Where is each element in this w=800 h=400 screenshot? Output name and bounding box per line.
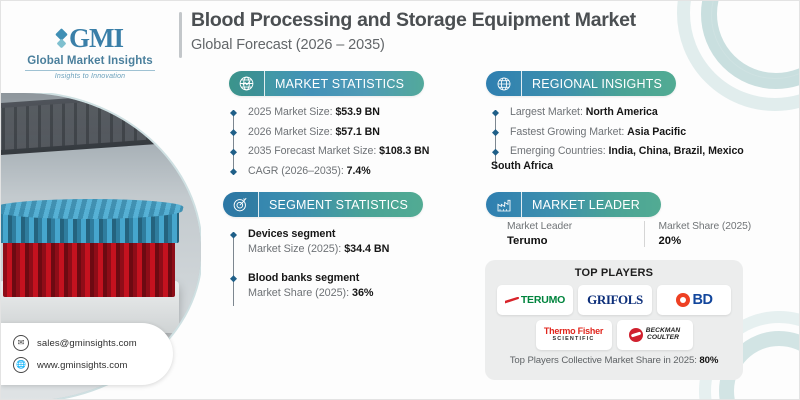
player-name-sub: SCIENTIFIC: [544, 337, 603, 343]
region-value: India, China, Brazil, Mexico: [609, 145, 744, 157]
contact-website-row[interactable]: 🌐 www.gminsights.com: [13, 354, 167, 376]
stat-label: 2035 Forecast Market Size:: [248, 145, 376, 157]
globe-icon: [486, 71, 522, 96]
segment-heading: Devices segment: [248, 227, 474, 242]
player-logo-card[interactable]: GRIFOLS: [578, 285, 652, 315]
bd-logo: BD: [676, 292, 713, 308]
stat-label: 2026 Market Size:: [248, 126, 333, 138]
section-badge-label: MARKET STATISTICS: [265, 77, 404, 91]
globe-icon: 🌐: [13, 357, 29, 373]
stat-value: 7.4%: [347, 165, 371, 177]
list-item: Fastest Growing Market: Asia Pacific: [491, 125, 791, 140]
section-badge-label: MARKET LEADER: [522, 198, 640, 212]
list-item: Emerging Countries: India, China, Brazil…: [491, 144, 791, 173]
region-label: Fastest Growing Market:: [510, 126, 624, 138]
market-share-column: Market Share (2025) 20%: [644, 221, 792, 247]
beckman-coulter-logo: BECKMAN COULTER: [629, 328, 680, 342]
blood-tubes-caps: [1, 199, 185, 219]
bd-starburst-icon: [676, 293, 690, 307]
stat-value: $108.3 BN: [379, 145, 429, 157]
page-title: Blood Processing and Storage Equipment M…: [191, 9, 636, 31]
player-logo-card[interactable]: BECKMAN COULTER: [617, 320, 693, 350]
section-badge-segment-statistics: SEGMENT STATISTICS: [223, 192, 423, 217]
keyboard-blur: [1, 93, 201, 158]
player-name: BD: [693, 292, 713, 308]
top-players-panel: TOP PLAYERS TERUMO GRIFOLS BD Thermo Fis…: [485, 260, 743, 380]
section-badge-label: REGIONAL INSIGHTS: [522, 77, 662, 91]
envelope-icon: ✉: [13, 335, 29, 351]
beckman-wordmark: BECKMAN COULTER: [646, 328, 680, 342]
leader-label: Market Leader: [507, 221, 640, 232]
segment-heading: Blood banks segment: [248, 271, 474, 286]
share-value: 20%: [659, 235, 792, 247]
stat-label: CAGR (2026–2035):: [248, 165, 344, 177]
market-leader-row: Market Leader Terumo Market Share (2025)…: [507, 221, 791, 247]
stat-label: 2025 Market Size:: [248, 106, 333, 118]
region-label: Largest Market:: [510, 106, 583, 118]
top-players-logo-grid: TERUMO GRIFOLS BD Thermo Fisher SCIENTIF…: [495, 285, 733, 350]
segment-value: 36%: [352, 287, 373, 299]
title-accent-bar: [179, 12, 182, 58]
header-block: Blood Processing and Storage Equipment M…: [179, 9, 636, 53]
regional-insights-list: Largest Market: North America Fastest Gr…: [491, 105, 791, 178]
thermofisher-logo: Thermo Fisher SCIENTIFIC: [544, 327, 603, 343]
list-item: Blood banks segment Market Share (2025):…: [229, 271, 474, 301]
factory-icon: [486, 192, 522, 217]
list-item: 2035 Forecast Market Size: $108.3 BN: [229, 144, 479, 159]
player-logo-card[interactable]: TERUMO: [497, 285, 573, 315]
footer-value: 80%: [699, 355, 718, 366]
region-label: Emerging Countries:: [510, 145, 606, 157]
player-name: TERUMO: [521, 294, 565, 306]
list-item: CAGR (2026–2035): 7.4%: [229, 164, 479, 179]
logo-wordmark: GMI: [69, 23, 123, 54]
company-name: Global Market Insights: [15, 55, 165, 67]
market-leader-column: Market Leader Terumo: [507, 221, 640, 247]
contact-email: sales@gminsights.com: [37, 338, 137, 349]
grifols-logo: GRIFOLS: [587, 292, 643, 308]
top-players-footer: Top Players Collective Market Share in 2…: [495, 355, 733, 366]
page-subtitle: Global Forecast (2026 – 2035): [191, 37, 636, 53]
list-item: Devices segment Market Size (2025): $34.…: [229, 227, 474, 257]
terumo-logo: TERUMO: [505, 294, 565, 306]
section-badge-regional-insights: REGIONAL INSIGHTS: [486, 71, 676, 96]
gmi-logo: GMI Global Market Insights Insights to I…: [15, 23, 165, 80]
contact-panel: ✉ sales@gminsights.com 🌐 www.gminsights.…: [1, 323, 173, 385]
target-chart-icon: [223, 192, 259, 217]
segment-label: Market Share (2025):: [248, 287, 349, 299]
globe-chart-icon: [229, 71, 265, 96]
beckman-mark-icon: [629, 328, 643, 342]
footer-label: Top Players Collective Market Share in 2…: [510, 355, 697, 366]
region-value: Asia Pacific: [627, 126, 686, 138]
region-value-line2: South Africa: [491, 159, 791, 174]
company-tagline: Insights to Innovation: [15, 73, 165, 80]
segment-statistics-list: Devices segment Market Size (2025): $34.…: [229, 227, 474, 315]
section-badge-label: SEGMENT STATISTICS: [259, 198, 408, 212]
player-logo-card[interactable]: BD: [657, 285, 731, 315]
top-players-title: TOP PLAYERS: [495, 267, 733, 279]
diamond-icon: [57, 30, 66, 47]
list-item: 2025 Market Size: $53.9 BN: [229, 105, 479, 120]
segment-value: $34.4 BN: [344, 243, 389, 255]
player-name-sub: COULTER: [646, 335, 680, 342]
share-label: Market Share (2025): [659, 221, 792, 232]
blood-tubes-red: [3, 235, 175, 297]
section-badge-market-statistics: MARKET STATISTICS: [229, 71, 424, 96]
terumo-swoosh-icon: [505, 297, 519, 304]
infographic-canvas: GMI Global Market Insights Insights to I…: [0, 0, 800, 400]
logo-divider: [25, 70, 155, 71]
list-item: Largest Market: North America: [491, 105, 791, 120]
contact-email-row[interactable]: ✉ sales@gminsights.com: [13, 332, 167, 354]
contact-website: www.gminsights.com: [37, 360, 128, 371]
section-badge-market-leader: MARKET LEADER: [486, 192, 661, 217]
list-item: 2026 Market Size: $57.1 BN: [229, 125, 479, 140]
stat-value: $53.9 BN: [335, 106, 379, 118]
segment-label: Market Size (2025):: [248, 243, 341, 255]
stat-value: $57.1 BN: [335, 126, 379, 138]
region-value: North America: [586, 106, 658, 118]
player-logo-card[interactable]: Thermo Fisher SCIENTIFIC: [536, 320, 612, 350]
market-statistics-list: 2025 Market Size: $53.9 BN 2026 Market S…: [229, 105, 479, 183]
leader-value: Terumo: [507, 235, 640, 247]
